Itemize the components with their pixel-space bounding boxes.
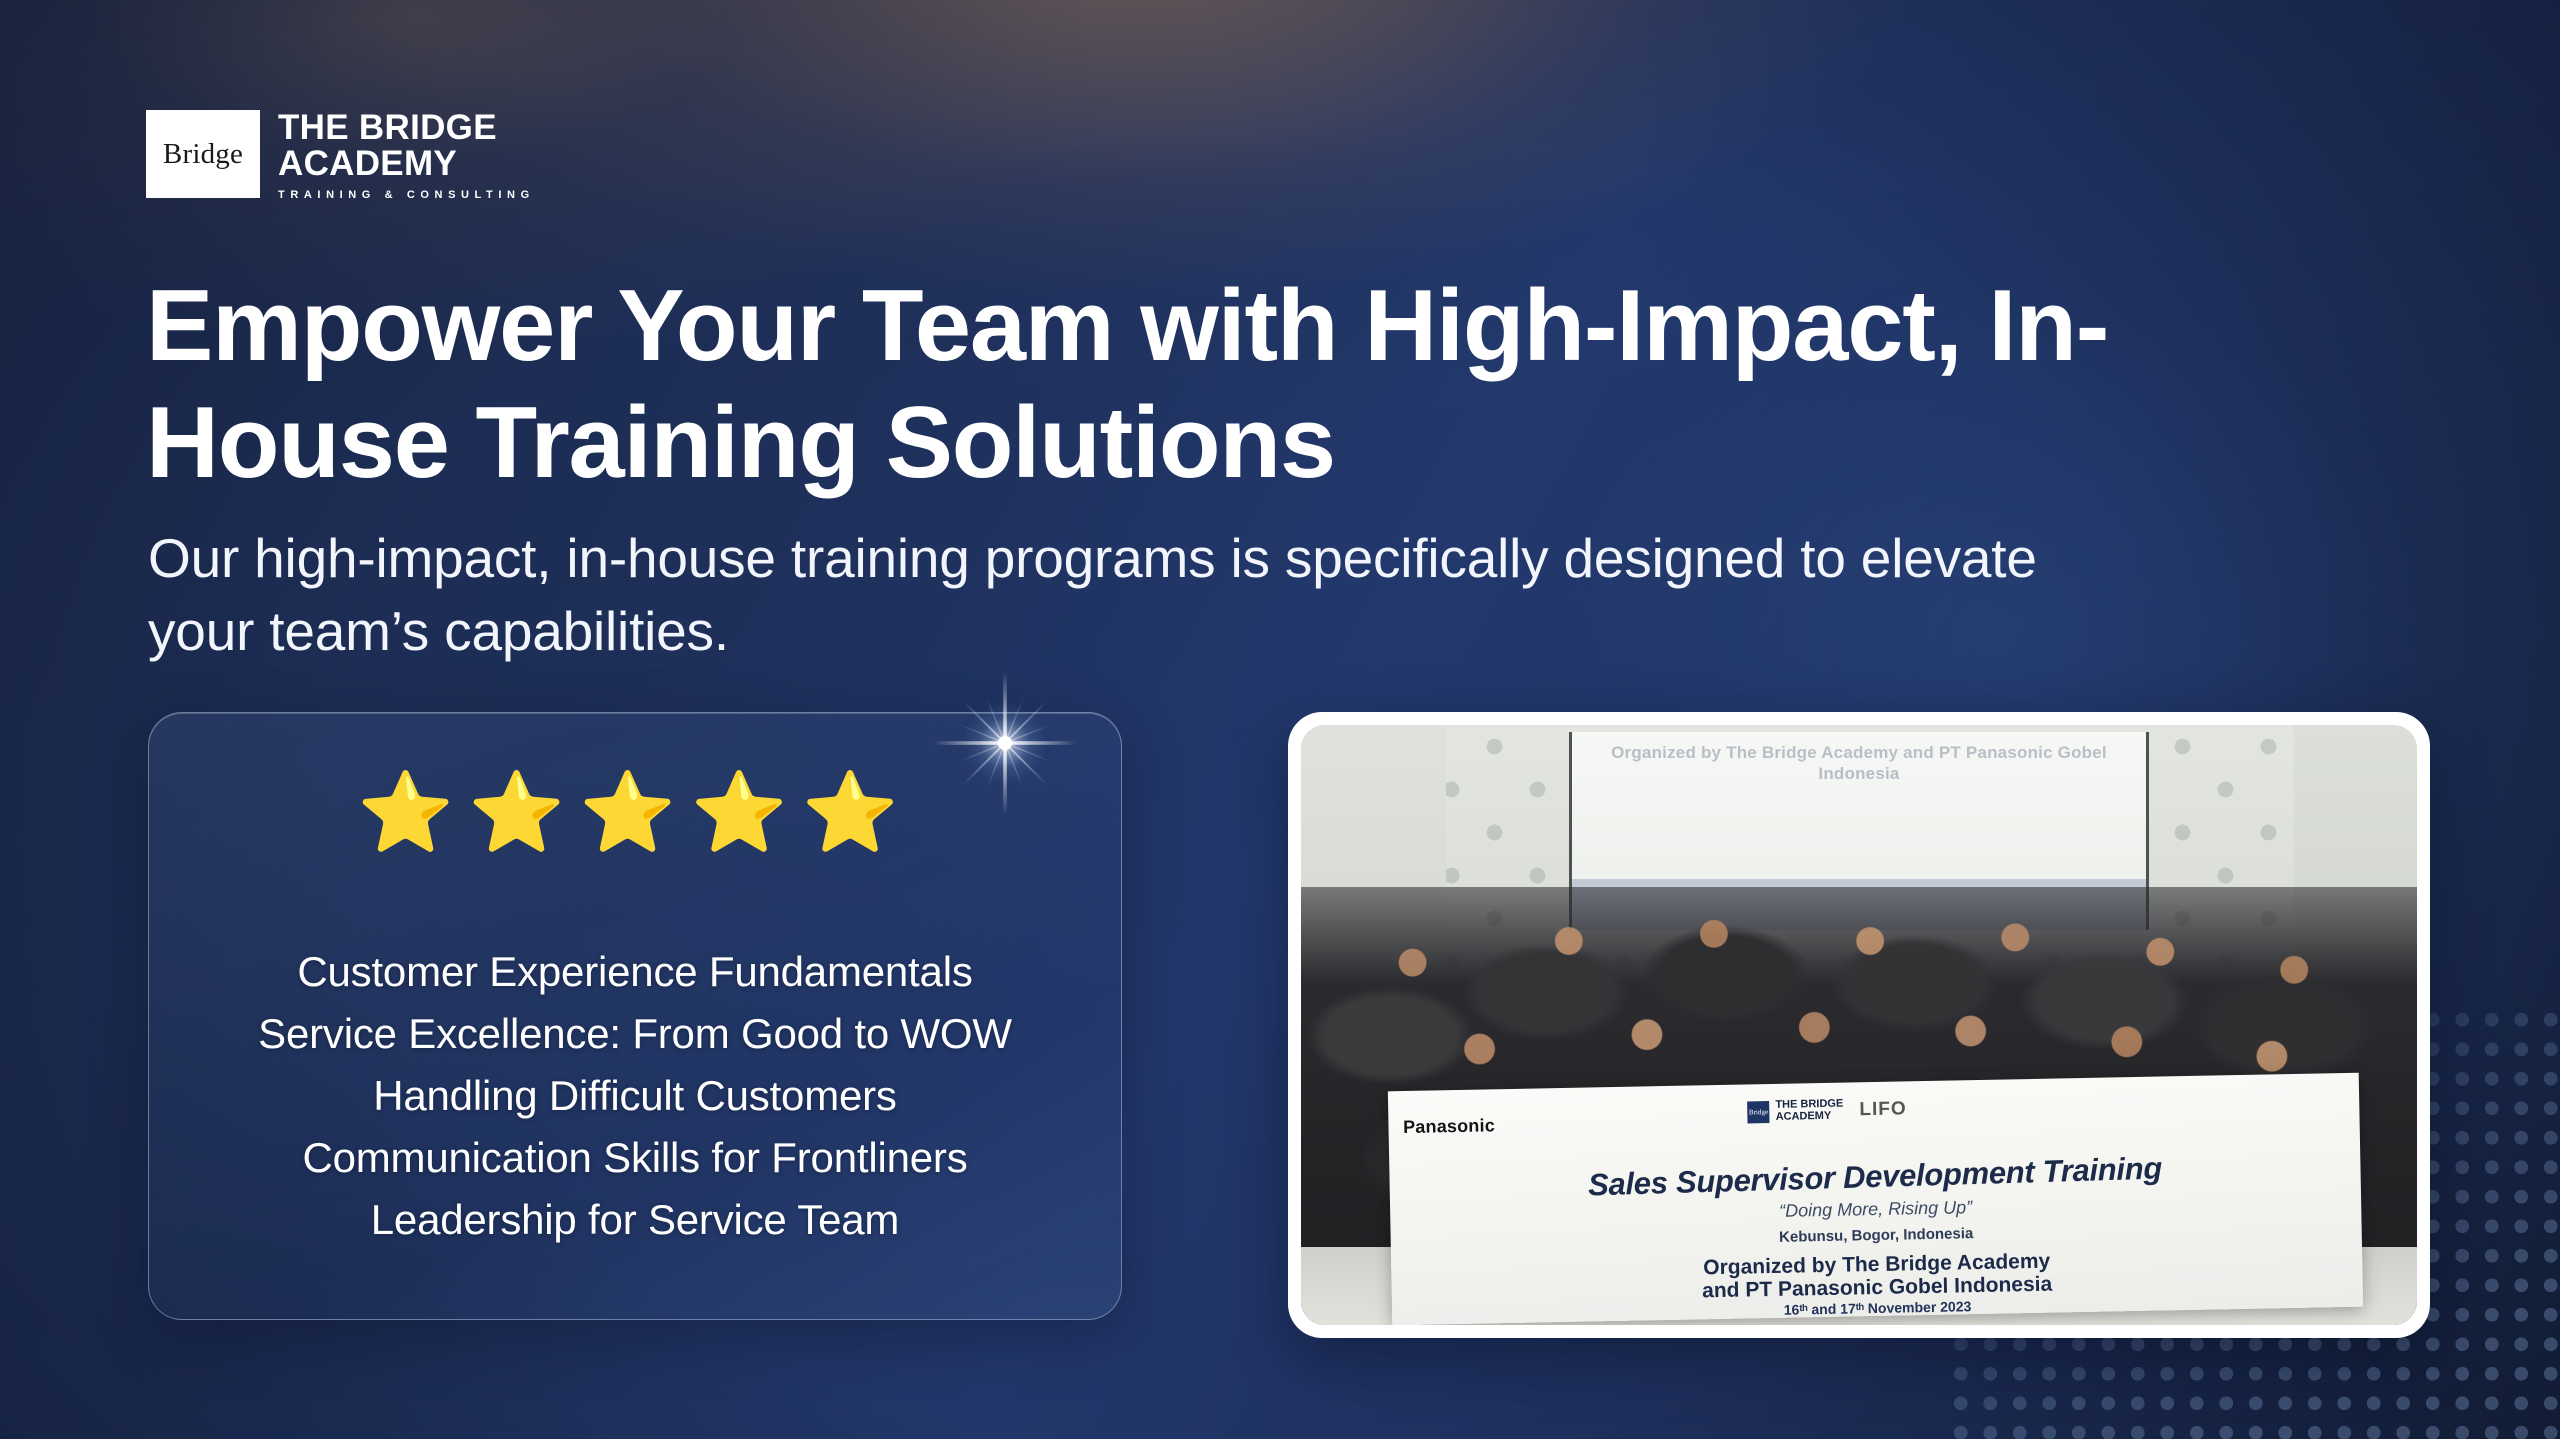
list-item: Service Excellence: From Good to WOW (173, 1003, 1097, 1065)
course-list-card: ⭐⭐⭐⭐⭐ Customer Experience Fundamentals S… (148, 712, 1122, 1320)
star-rating: ⭐⭐⭐⭐⭐ (149, 773, 1121, 851)
logo-mark-label: Bridge (163, 138, 243, 171)
logo-mark-icon: Bridge (146, 110, 260, 198)
banner-logo-mark-icon: Bridge (1748, 1101, 1770, 1123)
banner-bridge-logo: Bridge THE BRIDGE ACADEMY (1748, 1099, 1844, 1124)
page-title: Empower Your Team with High-Impact, In-H… (146, 268, 2266, 502)
projector-screen-text: Organized by The Bridge Academy and PT P… (1572, 742, 2146, 785)
banner-logo-text: THE BRIDGE ACADEMY (1776, 1099, 1844, 1123)
event-photo: Organized by The Bridge Academy and PT P… (1301, 725, 2417, 1325)
page-subtitle: Our high-impact, in-house training progr… (148, 522, 2048, 667)
brand-logo: Bridge THE BRIDGE ACADEMY TRAINING & CON… (146, 110, 535, 201)
list-item: Handling Difficult Customers (173, 1065, 1097, 1127)
event-photo-frame: Organized by The Bridge Academy and PT P… (1288, 712, 2430, 1338)
event-banner: Panasonic Bridge THE BRIDGE ACADEMY LIFO… (1388, 1073, 2363, 1325)
list-item: Communication Skills for Frontliners (173, 1127, 1097, 1189)
list-item: Leadership for Service Team (173, 1189, 1097, 1251)
slide-canvas: Bridge THE BRIDGE ACADEMY TRAINING & CON… (0, 0, 2560, 1439)
banner-logo-row: Bridge THE BRIDGE ACADEMY LIFO (1748, 1098, 1908, 1124)
logo-line-1: THE BRIDGE (278, 110, 535, 146)
banner-partner-logo: LIFO (1859, 1098, 1907, 1121)
banner-sponsor-logo: Panasonic (1403, 1115, 1495, 1138)
banner-logo-line-2: ACADEMY (1776, 1111, 1844, 1124)
course-list: Customer Experience Fundamentals Service… (173, 941, 1097, 1251)
logo-wordmark: THE BRIDGE ACADEMY TRAINING & CONSULTING (260, 110, 535, 201)
list-item: Customer Experience Fundamentals (173, 941, 1097, 1003)
logo-tagline: TRAINING & CONSULTING (278, 189, 535, 201)
logo-line-2: ACADEMY (278, 146, 535, 182)
